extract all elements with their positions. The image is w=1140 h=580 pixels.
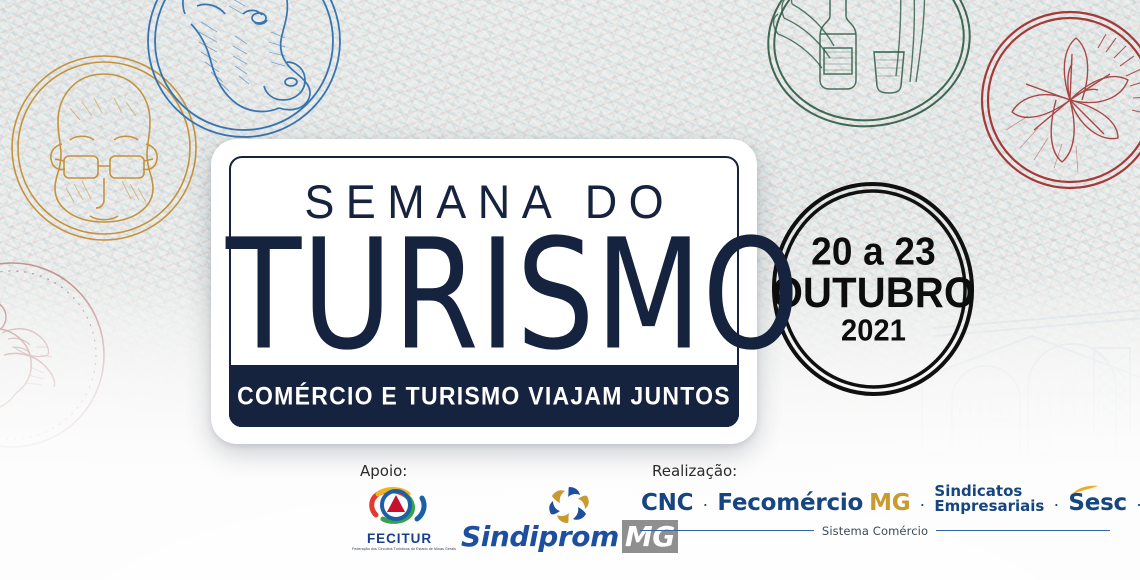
fecomercio-wordmark[interactable]: Fecomércio bbox=[717, 492, 863, 515]
separator-dot-2: · bbox=[919, 495, 925, 515]
sindiprom-mark-icon bbox=[546, 485, 592, 525]
separator-dot-4: · bbox=[1136, 495, 1140, 515]
fecitur-logo[interactable]: FECITUR Federação dos Circuitos Turístic… bbox=[352, 484, 447, 551]
sesc-swoosh-icon bbox=[1072, 485, 1098, 495]
poster-tagline-ribbon: COMÉRCIO E TURISMO VIAJAM JUNTOS bbox=[229, 365, 739, 427]
fecitur-subtitle: Federação dos Circuitos Turísticos do Es… bbox=[352, 547, 447, 551]
footer-support-block: Apoio: FECITUR Federação dos bbox=[352, 462, 642, 551]
sistema-comercio-rule: Sistema Comércio bbox=[640, 524, 1110, 538]
main-logo-card: SEMANA DO TURISMO COMÉRCIO E TURISMO VIA… bbox=[211, 139, 757, 444]
separator-dot-3: · bbox=[1053, 495, 1059, 515]
date-stamp: 20 a 23 OUTUBRO 2021 bbox=[771, 182, 976, 397]
fecomercio-mg-suffix: MG bbox=[869, 492, 910, 515]
sistema-comercio-label: Sistema Comércio bbox=[822, 524, 928, 538]
date-days: 20 a 23 bbox=[811, 232, 936, 271]
footer: Apoio: FECITUR Federação dos bbox=[0, 462, 1140, 580]
separator-dot-1: · bbox=[702, 495, 708, 515]
date-month: OUTUBRO bbox=[772, 272, 976, 314]
sindicatos-empresariais-wordmark[interactable]: Sindicatos Empresariais bbox=[934, 484, 1044, 515]
footer-realization-block: Realização: CNC · Fecomércio MG · S bbox=[640, 462, 1110, 538]
poster-canvas: 20 a 23 OUTUBRO 2021 SEMANA DO TURISMO C… bbox=[0, 0, 1140, 580]
poster-title-line2: TURISMO bbox=[226, 219, 742, 371]
fecitur-mark-icon bbox=[366, 484, 434, 528]
realization-label: Realização: bbox=[652, 462, 1110, 480]
support-label: Apoio: bbox=[360, 462, 642, 480]
cnc-wordmark[interactable]: CNC bbox=[641, 492, 693, 515]
rule-right bbox=[936, 530, 1110, 532]
sindiprom-word-primary: Sindiprom bbox=[461, 520, 619, 553]
poster-tagline: COMÉRCIO E TURISMO VIAJAM JUNTOS bbox=[237, 381, 731, 411]
date-stamp-text: 20 a 23 OUTUBRO 2021 bbox=[771, 182, 976, 397]
fecitur-wordmark: FECITUR bbox=[352, 531, 447, 546]
sindicatos-line2: Empresariais bbox=[934, 499, 1044, 514]
date-year: 2021 bbox=[841, 316, 906, 347]
rule-left bbox=[640, 530, 814, 532]
main-logo-card-border: SEMANA DO TURISMO COMÉRCIO E TURISMO VIA… bbox=[229, 156, 739, 427]
sistema-comercio-logos: CNC · Fecomércio MG · Sindicatos Empresa… bbox=[640, 484, 1110, 538]
support-logos: FECITUR Federação dos Circuitos Turístic… bbox=[352, 484, 642, 551]
